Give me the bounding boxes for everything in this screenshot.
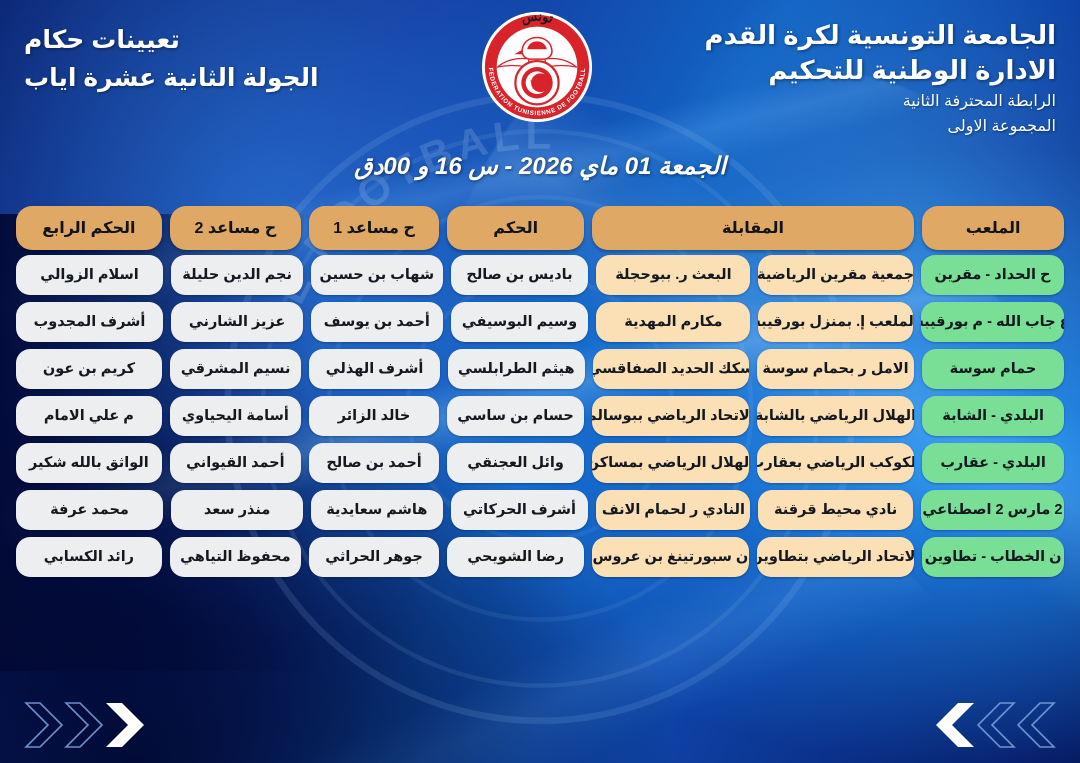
- cell-match-away: البعث ر. ببوحجلة: [596, 255, 750, 295]
- federation-name-line2: الادارة الوطنية للتحكيم: [626, 53, 1056, 88]
- cell-match-home: الامل ر بحمام سوسة: [757, 349, 914, 389]
- cell-stadium: ن الخطاب - تطاوين: [922, 537, 1064, 577]
- cell-referee: وسيم البوسيفي: [451, 302, 589, 342]
- cell-match-home: الملعب إ. بمنزل بورقيبة: [758, 302, 912, 342]
- cell-match: نادي محيط قرقنةالنادي ر لحمام الانف: [592, 490, 916, 530]
- table-body: ح الحداد - مقرينجمعية مقرين الرياضيةالبع…: [0, 251, 1080, 580]
- cell-match: الملعب إ. بمنزل بورقيبةمكارم المهدية: [592, 302, 916, 342]
- cell-assistant-1: خالد الزائر: [309, 396, 440, 436]
- table-row: 2 مارس 2 اصطناعينادي محيط قرقنةالنادي ر …: [0, 486, 1080, 533]
- federation-title-block: الجامعة التونسية لكرة القدم الادارة الوط…: [626, 18, 1056, 139]
- column-header-assistant-2: ح مساعد 2: [170, 206, 301, 250]
- column-header-referee: الحكم: [447, 206, 584, 250]
- cell-referee: باديس بن صالح: [451, 255, 589, 295]
- column-header-stadium: الملعب: [922, 206, 1064, 250]
- cell-match-away: مكارم المهدية: [596, 302, 750, 342]
- cell-match: الهلال الرياضي بالشابةالاتحاد الرياضي بب…: [588, 396, 918, 436]
- cell-assistant-2: محفوظ التياهي: [170, 537, 301, 577]
- league-name: الرابطة المحترفة الثانية: [626, 90, 1056, 113]
- cell-match: جمعية مقرين الرياضيةالبعث ر. ببوحجلة: [592, 255, 916, 295]
- cell-stadium: ح الحداد - مقرين: [921, 255, 1065, 295]
- cell-match-home: الاتحاد الرياضي بتطاوين: [757, 537, 914, 577]
- column-header-assistant-1: ح مساعد 1: [309, 206, 440, 250]
- bottom-decoration: [0, 690, 1080, 763]
- federation-name-line1: الجامعة التونسية لكرة القدم: [626, 18, 1056, 53]
- cell-assistant-1: أشرف الهذلي: [309, 349, 440, 389]
- cell-assistant-2: منذر سعد: [171, 490, 303, 530]
- cell-assistant-1: هاشم سعايدية: [311, 490, 443, 530]
- table-row: حمام سوسةالامل ر بحمام سوسةسكك الحديد ال…: [0, 345, 1080, 392]
- chevron-left-group-icon: [892, 697, 1062, 753]
- appointments-title-line2: الجولة الثانية عشرة اياب: [24, 60, 354, 98]
- cell-assistant-2: نجم الدين حليلة: [171, 255, 303, 295]
- federation-crest-icon: تونس FEDERATION TUNISIENNE DE FOOTBALL: [478, 8, 596, 126]
- cell-match-home: الهلال الرياضي بالشابة: [757, 396, 914, 436]
- chevron-right-group-icon: [18, 697, 188, 753]
- cell-stadium: البلدي - الشابة: [922, 396, 1064, 436]
- cell-fourth-official: رائد الكسابي: [16, 537, 162, 577]
- cell-fourth-official: اسلام الزوالي: [16, 255, 163, 295]
- cell-stadium: البلدي - عقارب: [922, 443, 1064, 483]
- cell-match-away: الاتحاد الرياضي ببوسالم: [592, 396, 749, 436]
- page-header: تعيينات حكام الجولة الثانية عشرة اياب تو…: [0, 0, 1080, 200]
- cell-referee: حسام بن ساسي: [447, 396, 584, 436]
- group-name: المجموعة الاولى: [626, 115, 1056, 138]
- column-header-fourth-official: الحكم الرابع: [16, 206, 162, 250]
- appointments-title-block: تعيينات حكام الجولة الثانية عشرة اياب: [24, 22, 354, 97]
- cell-fourth-official: كريم بن عون: [16, 349, 162, 389]
- table-row: البلدي - الشابةالهلال الرياضي بالشابةالا…: [0, 392, 1080, 439]
- cell-assistant-1: جوهر الحراثي: [309, 537, 440, 577]
- cell-stadium: ع جاب الله - م بورقيبة: [921, 302, 1065, 342]
- cell-match: الاتحاد الرياضي بتطاوينن سبورتينغ بن عرو…: [588, 537, 918, 577]
- cell-match-home: جمعية مقرين الرياضية: [758, 255, 912, 295]
- cell-assistant-1: أحمد بن يوسف: [311, 302, 443, 342]
- table-row: ح الحداد - مقرينجمعية مقرين الرياضيةالبع…: [0, 251, 1080, 298]
- cell-assistant-2: أسامة اليحياوي: [170, 396, 301, 436]
- table-row: البلدي - عقاربالكوكب الرياضي بعقاربالهلا…: [0, 439, 1080, 486]
- cell-assistant-1: أحمد بن صالح: [309, 443, 440, 483]
- cell-assistant-2: أحمد القيواني: [170, 443, 301, 483]
- match-date-line: الجمعة 01 ماي 2026 - س 16 و 00دق: [0, 152, 1080, 181]
- cell-referee: رضا الشويحي: [447, 537, 584, 577]
- cell-assistant-2: عزيز الشارني: [171, 302, 303, 342]
- cell-fourth-official: محمد عرفة: [16, 490, 163, 530]
- cell-referee: أشرف الحركاتي: [451, 490, 589, 530]
- table-row: ن الخطاب - تطاوينالاتحاد الرياضي بتطاوين…: [0, 533, 1080, 580]
- cell-match-home: الكوكب الرياضي بعقارب: [757, 443, 914, 483]
- cell-match-away: النادي ر لحمام الانف: [596, 490, 750, 530]
- column-header-match: المقابلة: [592, 206, 914, 250]
- appointments-table: الملعب المقابلة الحكم ح مساعد 1 ح مساعد …: [0, 204, 1080, 580]
- cell-match-away: الهلال الرياضي بمساكن: [592, 443, 749, 483]
- cell-match-home: نادي محيط قرقنة: [758, 490, 912, 530]
- cell-fourth-official: الواثق بالله شكير: [16, 443, 162, 483]
- cell-referee: وائل العجنقي: [447, 443, 584, 483]
- appointments-title-line1: تعيينات حكام: [24, 22, 354, 60]
- cell-stadium: حمام سوسة: [922, 349, 1065, 389]
- cell-match: الكوكب الرياضي بعقاربالهلال الرياضي بمسا…: [588, 443, 918, 483]
- cell-match-away: ن سبورتينغ بن عروس: [592, 537, 749, 577]
- cell-match: الامل ر بحمام سوسةسكك الحديد الصفاقسي: [589, 349, 918, 389]
- cell-fourth-official: م علي الامام: [16, 396, 162, 436]
- table-row: ع جاب الله - م بورقيبةالملعب إ. بمنزل بو…: [0, 298, 1080, 345]
- cell-fourth-official: أشرف المجدوب: [16, 302, 163, 342]
- table-header-row: الملعب المقابلة الحكم ح مساعد 1 ح مساعد …: [0, 204, 1080, 251]
- cell-stadium: 2 مارس 2 اصطناعي: [921, 490, 1065, 530]
- cell-match-away: سكك الحديد الصفاقسي: [593, 349, 750, 389]
- cell-assistant-1: شهاب بن حسين: [311, 255, 443, 295]
- cell-referee: هيثم الطرابلسي: [448, 349, 585, 389]
- cell-assistant-2: نسيم المشرقي: [170, 349, 301, 389]
